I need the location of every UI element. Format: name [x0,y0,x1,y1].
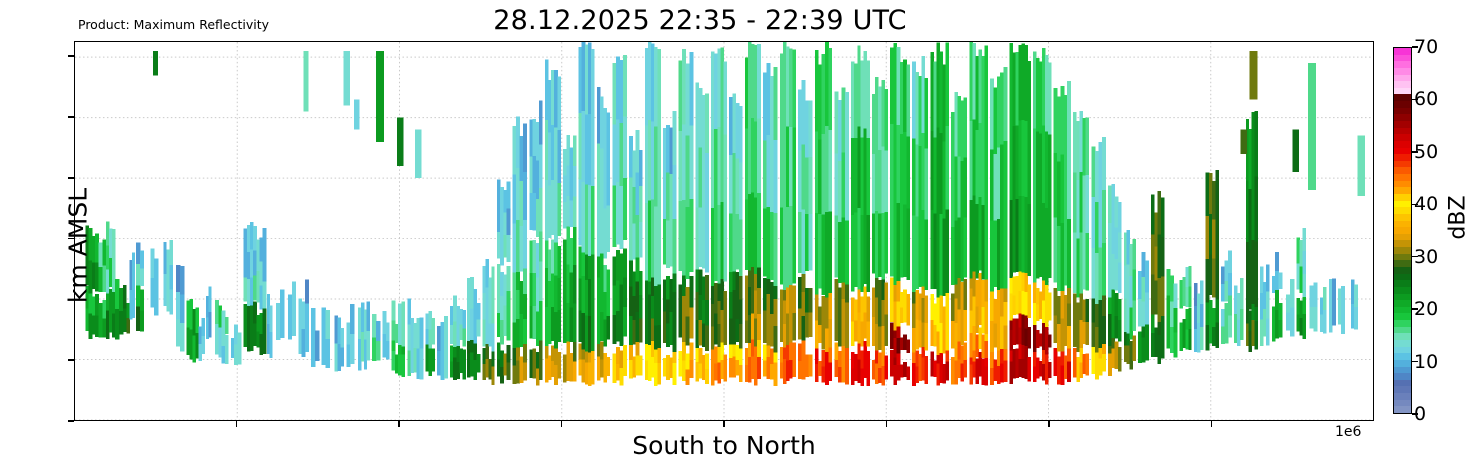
y-tick-mark [68,116,74,118]
colorbar-gradient [1394,48,1411,413]
plot-frame [74,41,1374,421]
colorbar-tick-label: 50 [1414,141,1438,163]
colorbar-tick-label: 30 [1414,246,1438,268]
y-tick-mark [68,55,74,57]
colorbar-tick-label: 60 [1414,88,1438,110]
x-tick-mark [236,421,238,427]
colorbar [1393,47,1412,414]
colorbar-tick-label: 20 [1414,298,1438,320]
colorbar-label: dBZ [1446,158,1471,278]
x-tick-mark [398,421,400,427]
colorbar-tick-label: 40 [1414,193,1438,215]
y-axis-label: km AMSL [64,126,93,366]
x-axis-offset-text: 1e6 [1335,424,1361,440]
y-tick-mark [68,420,74,422]
colorbar-tick-label: 10 [1414,351,1438,373]
product-label: Product: Maximum Reflectivity [78,17,269,32]
x-axis-label: South to North [74,431,1374,460]
colorbar-tick-label: 0 [1414,403,1426,425]
colorbar-tick-label: 70 [1414,36,1438,58]
x-tick-mark [886,421,888,427]
x-tick-mark [561,421,563,427]
colorbar-segment [1394,47,1411,55]
reflectivity-cross-section [75,42,1373,420]
x-tick-mark [723,421,725,427]
x-tick-mark [1048,421,1050,427]
x-tick-mark [1211,421,1213,427]
